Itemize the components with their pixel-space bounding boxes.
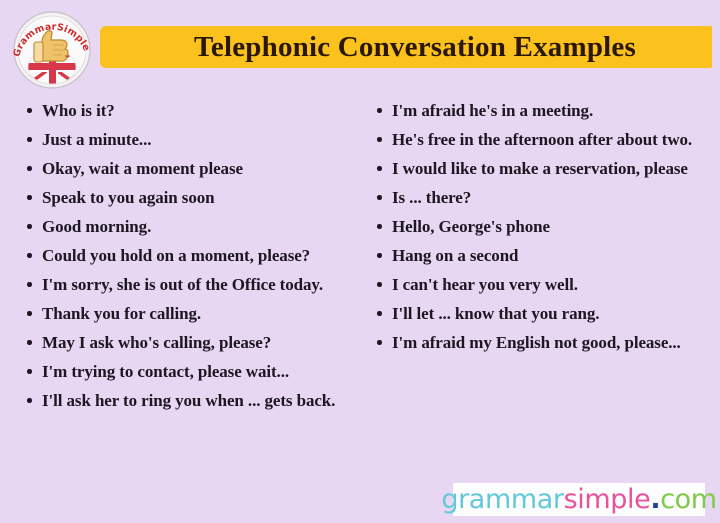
list-item: I can't hear you very well.	[376, 270, 710, 299]
wordmark-part-simple: simple	[564, 484, 651, 515]
left-phrase-list: Who is it? Just a minute... Okay, wait a…	[26, 96, 352, 415]
list-item: Speak to you again soon	[26, 183, 352, 212]
header: GrammarSimple.Com Telephonic Conversatio…	[0, 0, 720, 95]
footer-wordmark: grammarsimple.com	[453, 483, 705, 516]
list-item: Is ... there?	[376, 183, 710, 212]
list-item: Thank you for calling.	[26, 299, 352, 328]
list-item: May I ask who's calling, please?	[26, 328, 352, 357]
list-item: I'm afraid he's in a meeting.	[376, 96, 710, 125]
wordmark-text: grammarsimple.com	[441, 486, 716, 513]
grammarsimple-badge-logo: GrammarSimple.Com	[9, 9, 95, 91]
list-item: I'll let ... know that you rang.	[376, 299, 710, 328]
wordmark-part-grammar: grammar	[441, 484, 563, 515]
list-item: Hello, George's phone	[376, 212, 710, 241]
list-item: I'll ask her to ring you when ... gets b…	[26, 386, 352, 415]
right-column: I'm afraid he's in a meeting. He's free …	[360, 96, 720, 476]
wordmark-part-com: com	[660, 484, 716, 515]
list-item: He's free in the afternoon after about t…	[376, 125, 710, 154]
list-item: Who is it?	[26, 96, 352, 125]
list-item: Okay, wait a moment please	[26, 154, 352, 183]
left-column: Who is it? Just a minute... Okay, wait a…	[0, 96, 360, 476]
wordmark-dot: .	[650, 484, 660, 515]
phrase-columns: Who is it? Just a minute... Okay, wait a…	[0, 96, 720, 476]
list-item: Good morning.	[26, 212, 352, 241]
title-banner: Telephonic Conversation Examples	[100, 26, 712, 68]
infographic-page: GrammarSimple.Com Telephonic Conversatio…	[0, 0, 720, 523]
list-item: I would like to make a reservation, plea…	[376, 154, 710, 183]
list-item: I'm sorry, she is out of the Office toda…	[26, 270, 352, 299]
list-item: I'm afraid my English not good, please..…	[376, 328, 710, 357]
list-item: Just a minute...	[26, 125, 352, 154]
list-item: Could you hold on a moment, please?	[26, 241, 352, 270]
list-item: Hang on a second	[376, 241, 710, 270]
page-title: Telephonic Conversation Examples	[176, 33, 636, 62]
right-phrase-list: I'm afraid he's in a meeting. He's free …	[376, 96, 710, 357]
list-item: I'm trying to contact, please wait...	[26, 357, 352, 386]
